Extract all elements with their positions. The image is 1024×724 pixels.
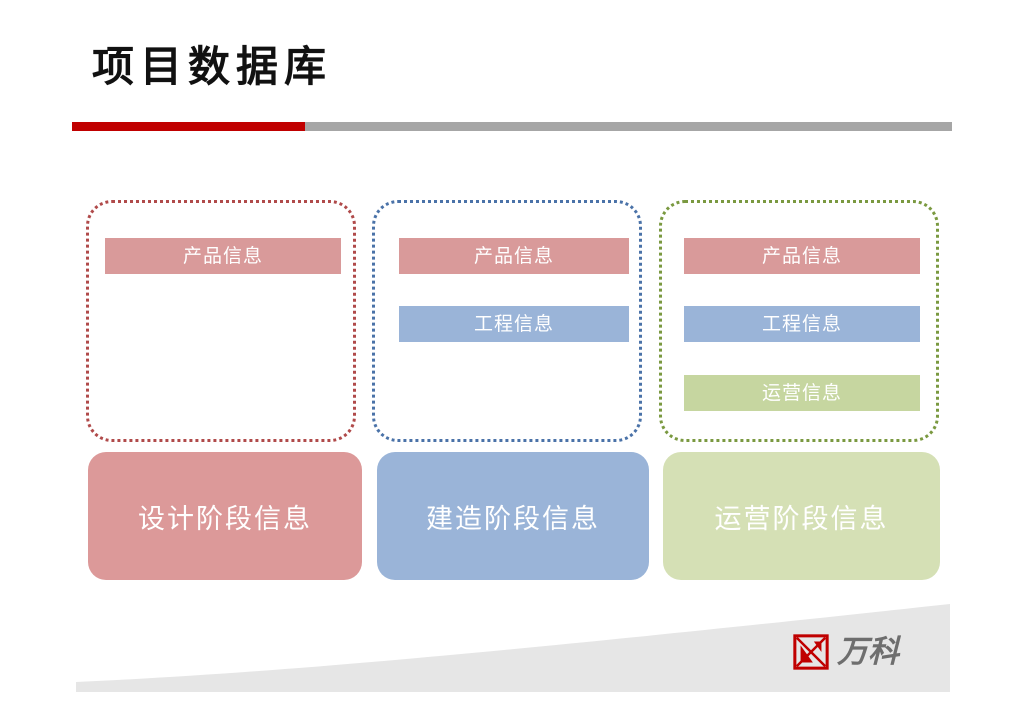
info-bar-product-operation: 产品信息 bbox=[684, 238, 920, 274]
page-title: 项目数据库 bbox=[92, 44, 332, 90]
group-box-design: 产品信息 bbox=[86, 200, 356, 442]
info-bar-product-design: 产品信息 bbox=[105, 238, 341, 274]
info-bar-product-construction: 产品信息 bbox=[399, 238, 629, 274]
title-divider bbox=[72, 122, 952, 131]
info-bar-operation-operation: 运营信息 bbox=[684, 375, 920, 411]
group-box-operation: 产品信息 工程信息 运营信息 bbox=[659, 200, 939, 442]
stage-card-operation: 运营阶段信息 bbox=[663, 452, 940, 580]
vanke-logo-text: 万科 bbox=[837, 637, 899, 668]
vanke-logo-mark-icon bbox=[792, 633, 830, 671]
divider-red-segment bbox=[72, 122, 305, 131]
slide-root: 项目数据库 产品信息 产品信息 工程信息 产品信息 工程信息 运营信息 设计阶段… bbox=[0, 0, 1024, 724]
stage-card-design: 设计阶段信息 bbox=[88, 452, 362, 580]
group-box-construction: 产品信息 工程信息 bbox=[372, 200, 642, 442]
divider-gray-segment bbox=[305, 122, 952, 131]
stage-card-construction: 建造阶段信息 bbox=[377, 452, 649, 580]
info-bar-engineering-construction: 工程信息 bbox=[399, 306, 629, 342]
info-bar-engineering-operation: 工程信息 bbox=[684, 306, 920, 342]
vanke-logo: 万科 bbox=[792, 630, 932, 674]
